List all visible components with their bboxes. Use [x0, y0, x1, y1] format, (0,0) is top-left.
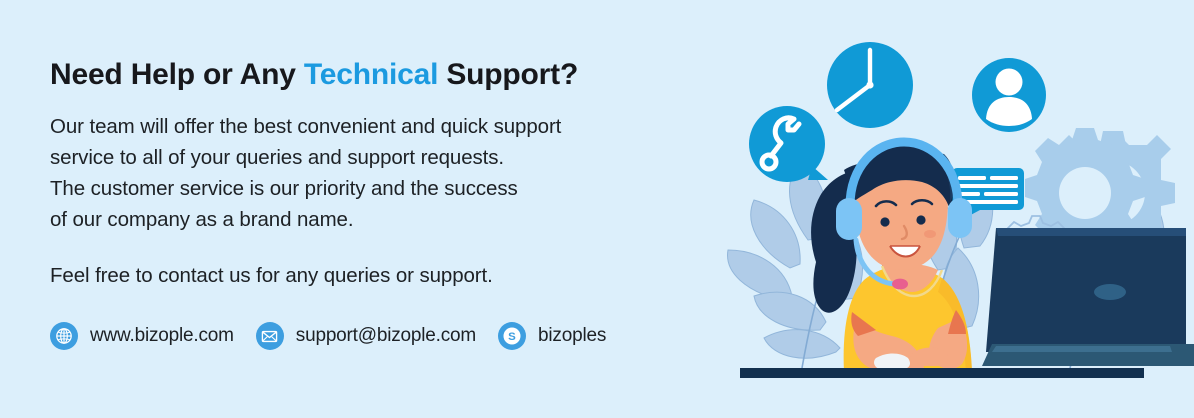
closing-paragraph: Feel free to contact us for any queries …: [50, 260, 730, 291]
mic-tip: [892, 279, 908, 290]
body-line-3: The customer service is our priority and…: [50, 173, 730, 204]
user-avatar-icon: [972, 58, 1046, 132]
contact-label-website: www.bizople.com: [90, 325, 234, 347]
headline-part1: Need Help or Any: [50, 58, 304, 91]
contact-item-email[interactable]: support@bizople.com: [256, 322, 476, 350]
headline-accent: Technical: [304, 58, 438, 91]
body-line-1: Our team will offer the best convenient …: [50, 111, 730, 142]
headphone-earcup-right: [948, 198, 972, 238]
contact-label-skype: bizoples: [538, 325, 606, 347]
body-paragraph: Our team will offer the best convenient …: [50, 111, 730, 235]
contact-row: www.bizople.com support@bizople.com S bi…: [50, 322, 606, 350]
eye-right: [916, 215, 925, 224]
skype-icon: S: [498, 322, 526, 350]
globe-icon: [50, 322, 78, 350]
headphone-earcup-left: [836, 198, 862, 240]
envelope-icon: [256, 322, 284, 350]
laptop: [982, 228, 1194, 366]
headline-part2: Support?: [438, 58, 578, 91]
wrench-speech-bubble-icon: [749, 106, 828, 182]
eye-left: [880, 217, 889, 226]
contact-label-email: support@bizople.com: [296, 325, 476, 347]
body-line-2: service to all of your queries and suppo…: [50, 142, 730, 173]
support-banner: Need Help or Any Technical Support? Our …: [0, 0, 1194, 418]
text-column: Need Help or Any Technical Support? Our …: [50, 58, 730, 291]
support-agent-illustration: [724, 0, 1194, 418]
laptop-logo: [1094, 284, 1126, 300]
svg-text:S: S: [508, 331, 516, 343]
clock-icon: [827, 42, 913, 128]
page-title: Need Help or Any Technical Support?: [50, 58, 730, 92]
body-line-4: of our company as a brand name.: [50, 204, 730, 235]
contact-item-skype[interactable]: S bizoples: [498, 322, 606, 350]
contact-item-website[interactable]: www.bizople.com: [50, 322, 234, 350]
desk: [740, 368, 1144, 378]
